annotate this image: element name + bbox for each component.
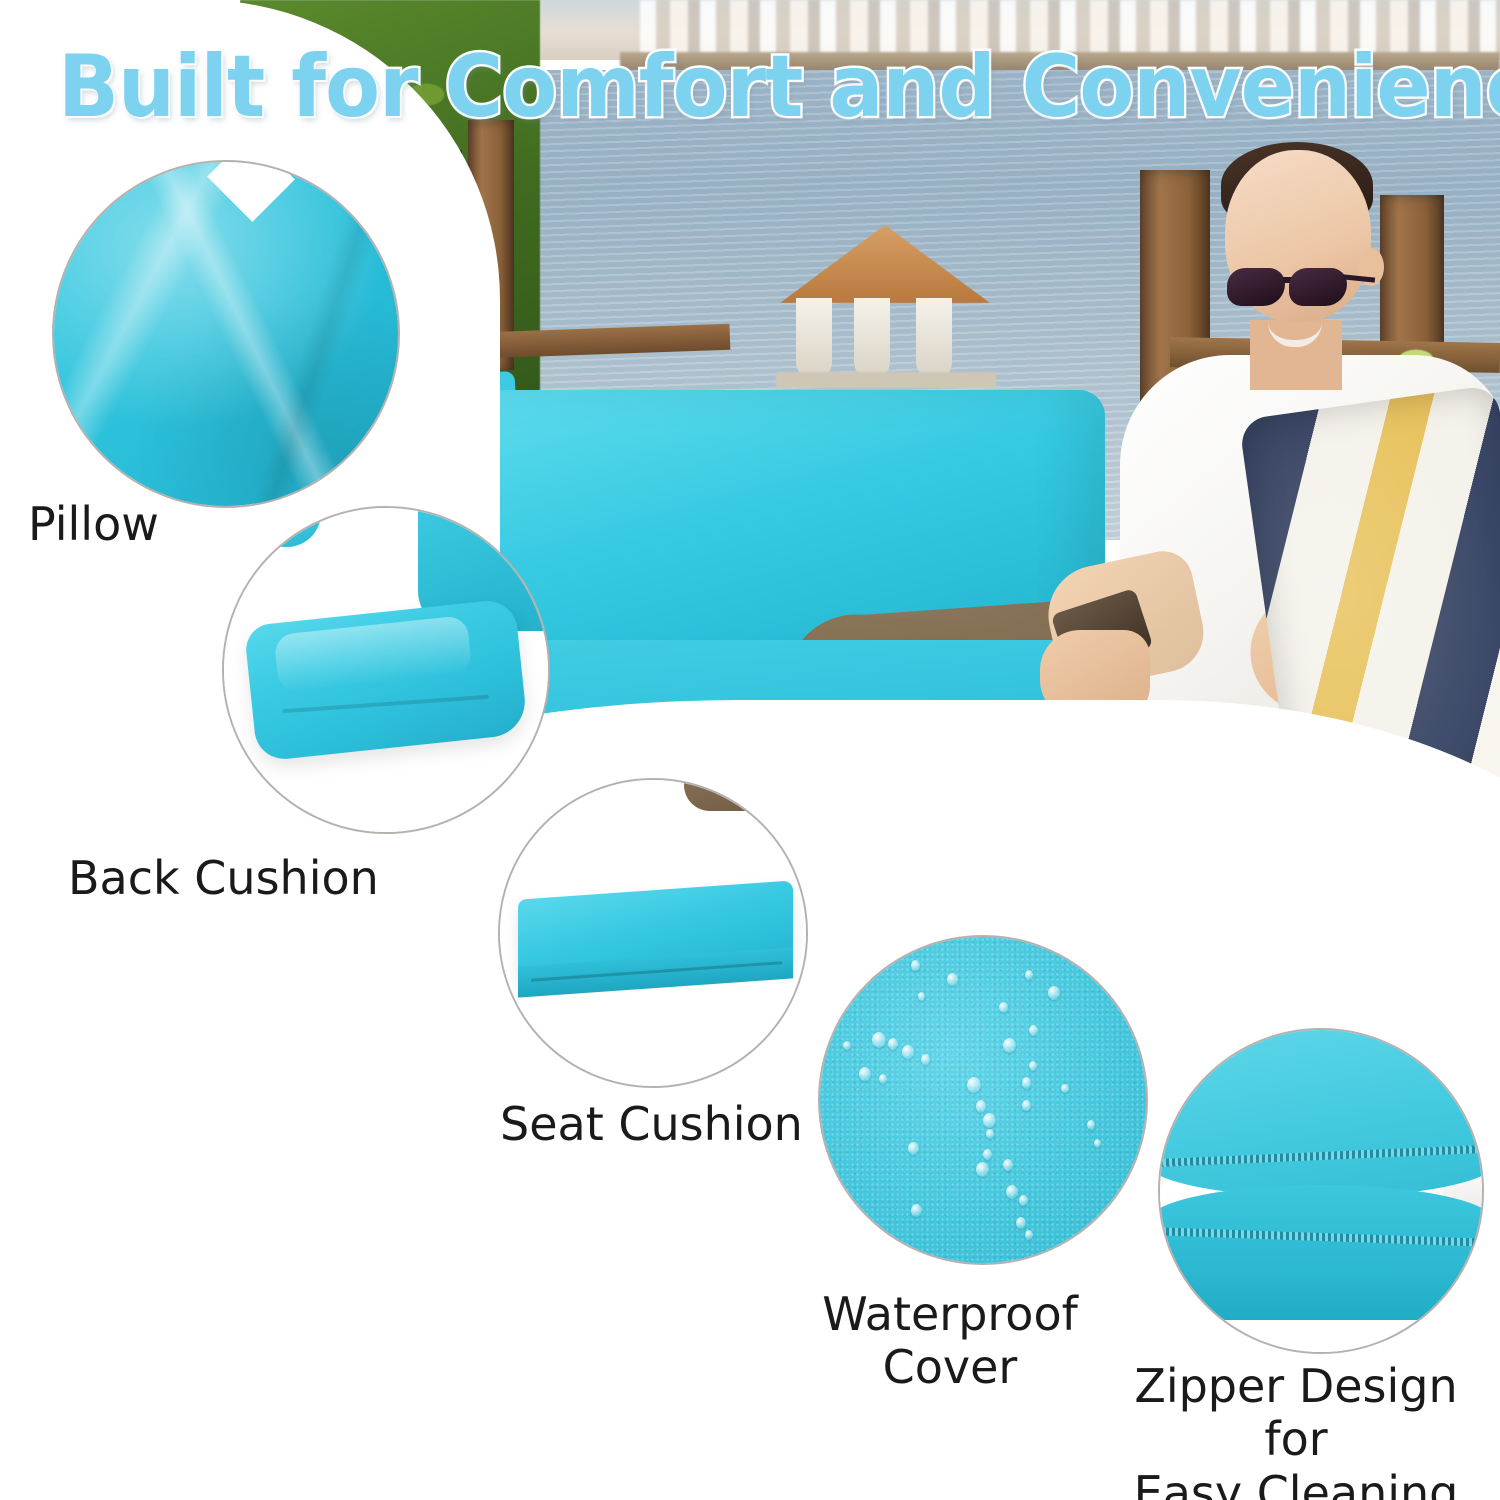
water-droplet: [1029, 1025, 1038, 1036]
cover-upper-flap: [1158, 1028, 1484, 1197]
lifestyle-photo: [240, 0, 1500, 990]
callout-label-seat-cushion: Seat Cushion: [500, 1098, 803, 1151]
gazebo-drape: [854, 298, 890, 380]
water-droplet: [983, 1113, 996, 1128]
water-droplet: [1029, 1061, 1037, 1071]
callout-label-waterproof-cover: Waterproof Cover: [800, 1288, 1100, 1395]
water-droplet: [983, 1149, 992, 1160]
seat-cushion-product-shot: [500, 780, 806, 1086]
callout-pillow: [52, 160, 400, 508]
water-droplet: [1016, 1217, 1026, 1229]
sunglass-lens-right: [1289, 268, 1347, 306]
water-droplet: [872, 1032, 886, 1048]
gazebo-drape: [916, 298, 952, 380]
water-droplet: [947, 973, 958, 986]
photo-scene: [240, 0, 1500, 990]
callout-label-back-cushion: Back Cushion: [68, 852, 379, 905]
waterproof-droplet-closeup: [820, 937, 1146, 1263]
sunglass-lens-left: [1227, 268, 1285, 306]
cover-lower-flap: [1158, 1185, 1484, 1333]
water-droplet: [902, 1045, 914, 1059]
background-fabric-peek: [222, 506, 321, 547]
water-droplet: [879, 1074, 887, 1084]
callout-waterproof-cover: [818, 935, 1148, 1265]
water-droplet: [1006, 1185, 1018, 1199]
pillow-fabric-closeup: [54, 162, 398, 506]
product-white-backdrop: [1160, 1320, 1482, 1352]
gazebo-base: [776, 372, 996, 388]
water-droplet: [967, 1077, 981, 1093]
callout-label-zipper: Zipper Design for Easy Cleaning: [1100, 1360, 1492, 1500]
page-title: Built for Comfort and Convenience: [58, 44, 1360, 130]
water-droplet: [1048, 986, 1060, 1000]
background-peek: [684, 778, 808, 811]
product-feature-poster: Built for Comfort and Convenience Pillow…: [0, 0, 1500, 1500]
zipper-detail-closeup: [1160, 1030, 1482, 1352]
water-droplet: [1087, 1120, 1095, 1130]
sunglass-temple: [1343, 274, 1375, 282]
water-droplet: [1003, 1159, 1013, 1171]
gazebo-drape: [796, 298, 832, 380]
water-droplet: [1094, 1139, 1101, 1148]
water-droplet: [1061, 1084, 1069, 1093]
water-droplet: [1003, 1038, 1016, 1053]
water-droplet: [1019, 1195, 1028, 1206]
sunglasses-icon: [1225, 268, 1373, 308]
callout-zipper: [1158, 1028, 1484, 1354]
callout-label-pillow: Pillow: [28, 498, 159, 551]
callout-seat-cushion: [498, 778, 808, 1088]
